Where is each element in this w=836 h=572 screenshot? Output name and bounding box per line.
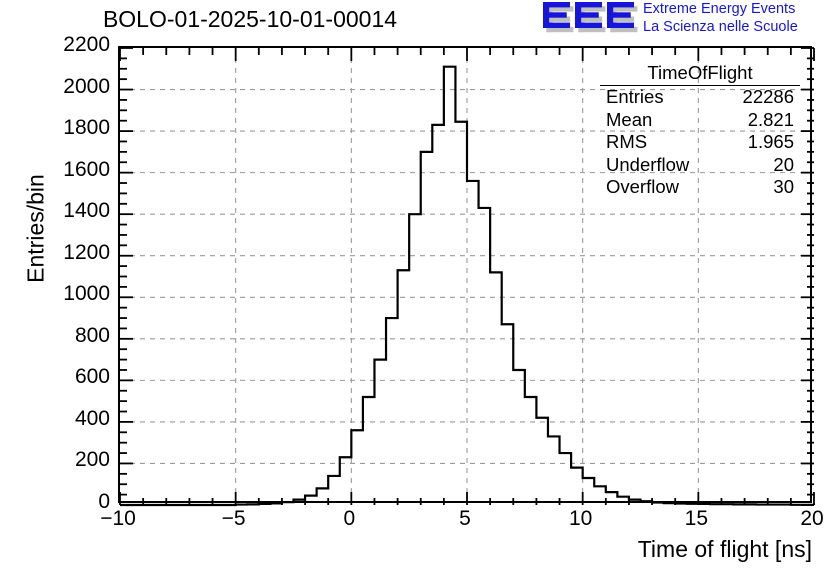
eee-logo-text: Extreme Energy Events La Scienza nelle S… <box>643 1 798 36</box>
stats-row-value: 30 <box>773 176 794 199</box>
stats-row-label: RMS <box>606 131 647 154</box>
x-tick-label: 20 <box>772 507 836 531</box>
x-axis-title: Time of flight [ns] <box>512 536 812 563</box>
x-tick-label: 15 <box>656 507 736 531</box>
root-canvas: BOLO-01-2025-10-01-00014 Extreme Energy … <box>0 0 836 572</box>
eee-logo-mark <box>543 2 639 36</box>
y-axis-title: Entries/bin <box>23 29 50 429</box>
x-tick-label: −5 <box>194 507 274 531</box>
stats-row: RMS1.965 <box>600 131 800 154</box>
stats-row-label: Entries <box>606 86 664 109</box>
eee-logo: Extreme Energy Events La Scienza nelle S… <box>543 1 835 39</box>
stats-row-value: 20 <box>773 154 794 177</box>
stats-box-title: TimeOfFlight <box>600 62 800 86</box>
x-tick-label: 0 <box>309 507 389 531</box>
x-tick-label: 5 <box>425 507 505 531</box>
stats-row-label: Mean <box>606 109 652 132</box>
eee-logo-line2: La Scienza nelle Scuole <box>643 19 798 37</box>
stats-box-rows: Entries22286Mean2.821RMS1.965Underflow20… <box>600 86 800 199</box>
y-tick-label: 200 <box>10 448 110 472</box>
page-title: BOLO-01-2025-10-01-00014 <box>0 6 500 33</box>
stats-row-value: 2.821 <box>748 109 794 132</box>
stats-row-value: 22286 <box>743 86 794 109</box>
stats-box: TimeOfFlight Entries22286Mean2.821RMS1.9… <box>600 62 800 199</box>
stats-row: Entries22286 <box>600 86 800 109</box>
stats-row-label: Overflow <box>606 176 679 199</box>
eee-logo-line1: Extreme Energy Events <box>643 1 798 19</box>
stats-row: Underflow20 <box>600 154 800 177</box>
stats-row-value: 1.965 <box>748 131 794 154</box>
x-tick-label: −10 <box>78 507 158 531</box>
x-tick-label: 10 <box>541 507 621 531</box>
stats-row: Mean2.821 <box>600 109 800 132</box>
stats-row-label: Underflow <box>606 154 689 177</box>
stats-row: Overflow30 <box>600 176 800 199</box>
